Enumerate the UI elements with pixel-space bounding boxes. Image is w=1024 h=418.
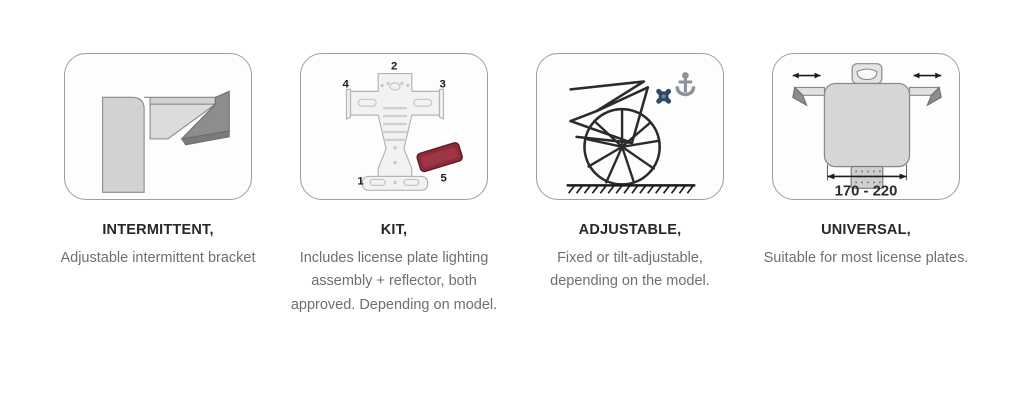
anchor-icon xyxy=(676,72,696,96)
feature-grid: INTERMITTENT, Adjustable intermittent br… xyxy=(0,0,1024,317)
feature-description: Adjustable intermittent bracket xyxy=(51,247,265,270)
feature-description: Includes license plate lighting assembly… xyxy=(287,247,501,317)
feature-title: INTERMITTENT, xyxy=(51,221,265,240)
intermittent-bracket-icon xyxy=(65,53,251,200)
dimension-label: 170 - 220 xyxy=(835,183,898,199)
feature-column-intermittent: INTERMITTENT, Adjustable intermittent br… xyxy=(40,53,276,317)
part-number-1: 1 xyxy=(357,175,363,187)
feature-column-kit: 1 2 3 4 5 KIT, Includes license plate li… xyxy=(276,53,512,317)
icon-card-adjustable xyxy=(536,53,724,200)
part-number-2: 2 xyxy=(391,61,397,73)
feature-column-universal: 170 - 220 UNIVERSAL, Suitable for most l… xyxy=(748,53,984,317)
part-number-4: 4 xyxy=(343,78,350,90)
feature-caption: ADJUSTABLE, Fixed or tilt-adjustable, de… xyxy=(523,221,737,294)
icon-card-universal: 170 - 220 xyxy=(772,53,960,200)
feature-description: Suitable for most license plates. xyxy=(759,247,973,270)
feature-description: Fixed or tilt-adjustable, depending on t… xyxy=(523,247,737,294)
feature-caption: KIT, Includes license plate lighting ass… xyxy=(287,221,501,317)
feature-caption: INTERMITTENT, Adjustable intermittent br… xyxy=(51,221,265,270)
feature-title: UNIVERSAL, xyxy=(759,221,973,240)
kit-parts-diagram-icon: 1 2 3 4 5 xyxy=(301,53,487,200)
adjustable-tilt-icon xyxy=(537,53,723,200)
bolt-icon xyxy=(659,91,669,101)
icon-card-kit: 1 2 3 4 5 xyxy=(300,53,488,200)
feature-title: KIT, xyxy=(287,221,501,240)
part-number-5: 5 xyxy=(441,172,447,184)
icon-card-intermittent xyxy=(64,53,252,200)
feature-title: ADJUSTABLE, xyxy=(523,221,737,240)
universal-plate-icon: 170 - 220 xyxy=(773,53,959,200)
feature-column-adjustable: ADJUSTABLE, Fixed or tilt-adjustable, de… xyxy=(512,53,748,317)
part-number-3: 3 xyxy=(440,78,446,90)
feature-caption: UNIVERSAL, Suitable for most license pla… xyxy=(759,221,973,270)
